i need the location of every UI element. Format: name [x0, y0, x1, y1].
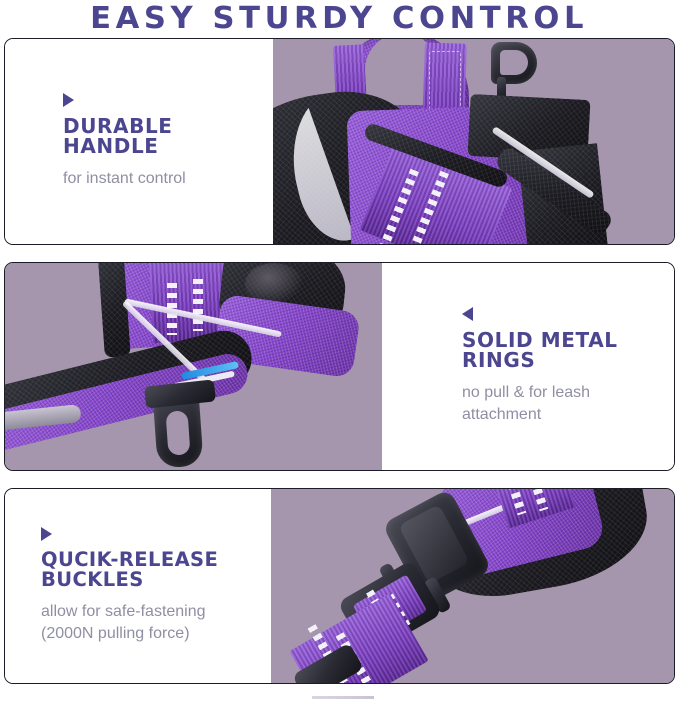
panel-text-pane: DURABLE HANDLE for instant control	[5, 39, 273, 244]
panel-headline: DURABLE HANDLE	[63, 116, 273, 158]
feature-panel-list: DURABLE HANDLE for instant control	[0, 38, 679, 684]
feature-panel-solid-metal-rings: SOLID METAL RINGS no pull & for leash at…	[4, 262, 675, 471]
panel-text-pane: QUCIK-RELEASE BUCKLES allow for safe-fas…	[5, 489, 271, 683]
panel-text-pane: SOLID METAL RINGS no pull & for leash at…	[382, 263, 674, 470]
arrow-right-icon	[41, 527, 52, 541]
panel-photo-solid-metal-rings	[5, 263, 382, 470]
banner: EASY STURDY CONTROL	[0, 0, 679, 38]
panel-subtext: allow for safe-fastening (2000N pulling …	[41, 601, 271, 645]
page-title: EASY STURDY CONTROL	[91, 4, 589, 34]
harness-metal-ring-hole	[165, 410, 190, 455]
panel-subtext: for instant control	[63, 168, 273, 190]
panel-photo-qucik-release-buckles	[271, 489, 674, 683]
harness-d-ring-hole	[500, 50, 528, 75]
panel-headline: SOLID METAL RINGS	[462, 330, 674, 372]
feature-panel-qucik-release-buckles: QUCIK-RELEASE BUCKLES allow for safe-fas…	[4, 488, 675, 684]
arrow-left-icon	[462, 307, 473, 321]
panel-headline: QUCIK-RELEASE BUCKLES	[41, 550, 271, 591]
panel-photo-durable-handle	[273, 39, 674, 244]
bottom-divider-sliver	[312, 696, 374, 699]
harness-reflective-blocks-b	[193, 279, 203, 331]
arrow-right-icon	[63, 93, 74, 107]
panel-subtext: no pull & for leash attachment	[462, 382, 674, 426]
feature-panel-durable-handle: DURABLE HANDLE for instant control	[4, 38, 675, 245]
